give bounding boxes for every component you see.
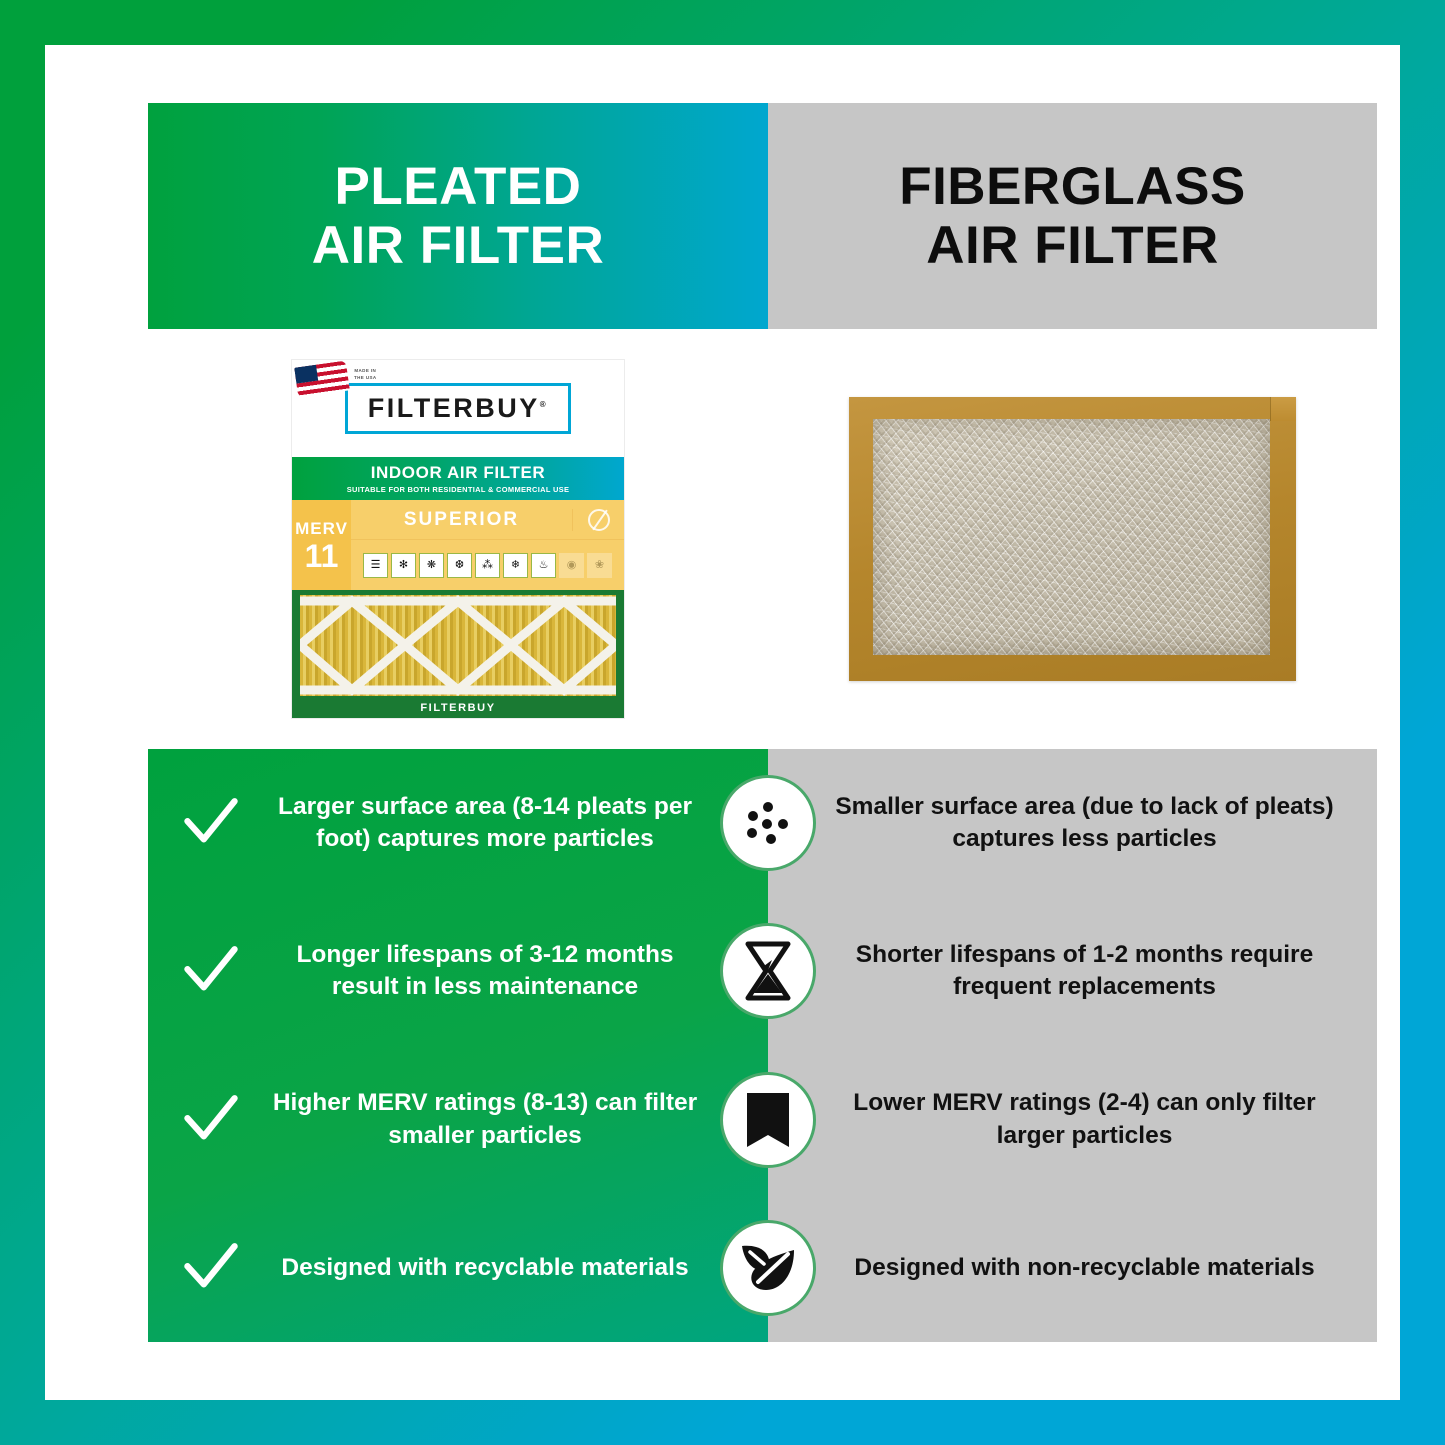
- header-pleated-title: PLEATED AIR FILTER: [312, 157, 605, 276]
- poster-frame: PLEATED AIR FILTER FIBERGLASS AIR FILTER: [0, 0, 1445, 1445]
- box-footer-brand: FILTERBUY: [292, 702, 624, 714]
- row-1-pleated: Larger surface area (8-14 pleats per foo…: [148, 791, 768, 856]
- box-subtitle-band: INDOOR AIR FILTER SUITABLE FOR BOTH RESI…: [292, 457, 624, 500]
- header-fiberglass: FIBERGLASS AIR FILTER: [768, 103, 1377, 329]
- header-band: PLEATED AIR FILTER FIBERGLASS AIR FILTER: [148, 103, 1377, 329]
- header-pleated-line1: PLEATED: [335, 157, 582, 216]
- row-2-fiberglass-text: Shorter lifespans of 1-2 months require …: [826, 939, 1343, 1004]
- row-1-fiberglass: Smaller surface area (due to lack of ple…: [768, 791, 1377, 856]
- row-4-fiberglass-text: Designed with non-recyclable materials: [826, 1252, 1343, 1285]
- comparison-row: Higher MERV ratings (8-13) can filter sm…: [148, 1046, 1377, 1194]
- row-4-fiberglass: Designed with non-recyclable materials: [768, 1252, 1377, 1285]
- header-pleated: PLEATED AIR FILTER: [148, 103, 768, 329]
- brand-frame: FILTERBUY®: [345, 383, 571, 434]
- merv-label: MERV: [295, 519, 348, 539]
- box-brand-section: MADE IN THE USA FILTERBUY®: [292, 360, 624, 457]
- merv-value: 11: [305, 540, 339, 572]
- box-tier-row: SUPERIOR: [351, 500, 624, 540]
- row-3-fiberglass-text: Lower MERV ratings (2-4) can only filter…: [826, 1087, 1343, 1152]
- made-in-usa-label: MADE IN THE USA: [354, 368, 377, 382]
- virus-icon: ❀: [587, 553, 612, 578]
- comparison-sheet: PLEATED AIR FILTER FIBERGLASS AIR FILTER: [148, 103, 1377, 1342]
- brand-text: FILTERBUY: [368, 393, 540, 423]
- comparison-row: Larger surface area (8-14 pleats per foo…: [148, 749, 1377, 897]
- hourglass-icon: [720, 923, 816, 1019]
- pleated-image-cell: MADE IN THE USA FILTERBUY® INDOOR AIR FI…: [148, 360, 768, 718]
- pleated-media: [300, 595, 616, 696]
- checkmark-icon: [182, 942, 240, 1000]
- particles-icon: [720, 775, 816, 871]
- box-rating-band: MERV 11 SUPERIOR: [292, 500, 624, 590]
- box-feature-icon-row: ☰ ✻ ❋ ❆ ⁂ ❄ ♨ ◉ ❀: [351, 540, 624, 590]
- comparison-band: Larger surface area (8-14 pleats per foo…: [148, 749, 1377, 1342]
- row-4-pleated-text: Designed with recyclable materials: [262, 1252, 708, 1285]
- mold-spores-icon: ✻: [391, 553, 416, 578]
- checkmark-icon: [182, 1239, 240, 1297]
- fiberglass-frame-notch: [1270, 397, 1296, 421]
- header-fiberglass-line1: FIBERGLASS: [899, 157, 1246, 216]
- pleat-support-lattice: [300, 595, 616, 696]
- box-tier-label: SUPERIOR: [351, 509, 572, 531]
- row-2-fiberglass: Shorter lifespans of 1-2 months require …: [768, 939, 1377, 1004]
- capsule-icon: ◉: [559, 553, 584, 578]
- box-rating-right: SUPERIOR ☰ ✻ ❋ ❆: [351, 500, 624, 590]
- header-fiberglass-line2: AIR FILTER: [926, 216, 1219, 275]
- box-subtitle: INDOOR AIR FILTER: [371, 463, 546, 483]
- product-image-band: MADE IN THE USA FILTERBUY® INDOOR AIR FI…: [148, 329, 1377, 749]
- poster-inner: PLEATED AIR FILTER FIBERGLASS AIR FILTER: [45, 45, 1400, 1400]
- trademark-symbol: ®: [540, 400, 548, 409]
- row-2-pleated: Longer lifespans of 3-12 months result i…: [148, 939, 768, 1004]
- checkmark-icon: [182, 794, 240, 852]
- bookmark-icon: [720, 1072, 816, 1168]
- row-3-pleated-text: Higher MERV ratings (8-13) can filter sm…: [262, 1087, 708, 1152]
- made-in-line1: MADE IN: [354, 368, 376, 373]
- row-3-fiberglass: Lower MERV ratings (2-4) can only filter…: [768, 1087, 1377, 1152]
- comparison-row: Longer lifespans of 3-12 months result i…: [148, 897, 1377, 1045]
- filterbuy-product-box: MADE IN THE USA FILTERBUY® INDOOR AIR FI…: [292, 360, 624, 718]
- sneeze-allergen-icon: ♨: [531, 553, 556, 578]
- row-4-pleated: Designed with recyclable materials: [148, 1239, 768, 1297]
- pet-dander-icon: ❄: [503, 553, 528, 578]
- header-fiberglass-title: FIBERGLASS AIR FILTER: [899, 157, 1246, 276]
- ul-listed-icon: [572, 509, 624, 531]
- row-3-pleated: Higher MERV ratings (8-13) can filter sm…: [148, 1087, 768, 1152]
- row-1-fiberglass-text: Smaller surface area (due to lack of ple…: [826, 791, 1343, 856]
- brand-name: FILTERBUY®: [368, 393, 548, 424]
- checkmark-icon: [182, 1091, 240, 1149]
- fiberglass-media: [873, 419, 1270, 655]
- pollen-icon: ❆: [447, 553, 472, 578]
- box-tagline: SUITABLE FOR BOTH RESIDENTIAL & COMMERCI…: [347, 485, 570, 494]
- row-1-pleated-text: Larger surface area (8-14 pleats per foo…: [262, 791, 708, 856]
- merv-badge: MERV 11: [292, 500, 351, 590]
- smoke-particles-icon: ⁂: [475, 553, 500, 578]
- bacteria-icon: ❋: [419, 553, 444, 578]
- header-pleated-line2: AIR FILTER: [312, 216, 605, 275]
- box-pleat-window: FILTERBUY: [292, 590, 624, 718]
- dust-icon: ☰: [363, 553, 388, 578]
- made-in-line2: THE USA: [354, 375, 377, 380]
- leaf-icon: [720, 1220, 816, 1316]
- fiberglass-filter-photo: [849, 397, 1296, 681]
- comparison-row: Designed with recyclable materials D: [148, 1194, 1377, 1342]
- comparison-rows: Larger surface area (8-14 pleats per foo…: [148, 749, 1377, 1342]
- fiberglass-image-cell: [768, 397, 1377, 681]
- row-2-pleated-text: Longer lifespans of 3-12 months result i…: [262, 939, 708, 1004]
- usa-flag-icon: [294, 361, 350, 398]
